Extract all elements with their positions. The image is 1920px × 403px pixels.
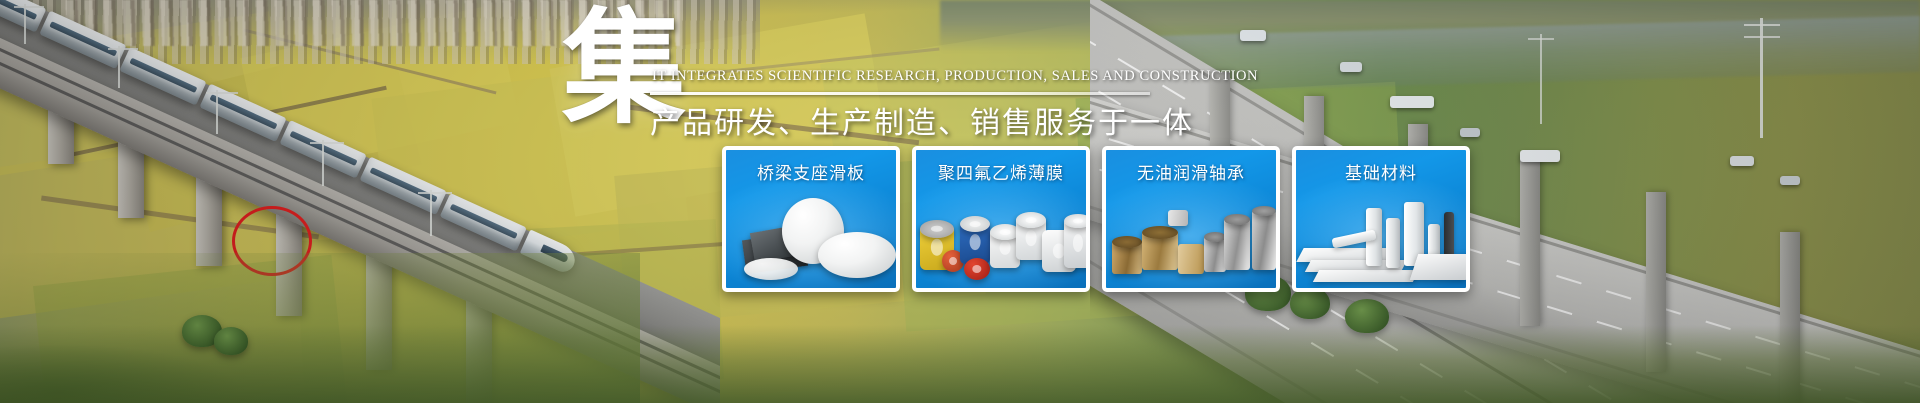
chinese-tagline: 产品研发、生产制造、销售服务于一体 xyxy=(650,98,1194,142)
product-card-title: 聚四氟乙烯薄膜 xyxy=(916,159,1086,184)
product-card-base-materials[interactable]: 基础材料 xyxy=(1292,146,1470,292)
english-tagline: IT INTEGRATES SCIENTIFIC RESEARCH, PRODU… xyxy=(652,68,1258,85)
hero-banner: 集 IT INTEGRATES SCIENTIFIC RESEARCH, PRO… xyxy=(0,0,1920,403)
product-card-title: 基础材料 xyxy=(1296,159,1466,184)
product-card-oil-free-bearing[interactable]: 无油润滑轴承 xyxy=(1102,146,1280,292)
product-card-title: 无油润滑轴承 xyxy=(1106,159,1276,184)
product-card-bridge-bearing-plate[interactable]: 桥梁支座滑板 xyxy=(722,146,900,292)
product-card-title: 桥梁支座滑板 xyxy=(726,159,896,184)
product-image-oil-free-bearings xyxy=(1106,184,1276,288)
product-image-base-materials xyxy=(1296,184,1466,288)
product-card-list: 桥梁支座滑板 聚四氟乙烯薄膜 xyxy=(722,146,1470,292)
headline-divider-rule xyxy=(650,92,1150,95)
product-image-ptfe-film-rolls xyxy=(916,184,1086,288)
product-card-ptfe-film[interactable]: 聚四氟乙烯薄膜 xyxy=(912,146,1090,292)
headline-block: 集 IT INTEGRATES SCIENTIFIC RESEARCH, PRO… xyxy=(540,12,1160,142)
product-image-ptfe-sliding-plate xyxy=(726,184,896,288)
